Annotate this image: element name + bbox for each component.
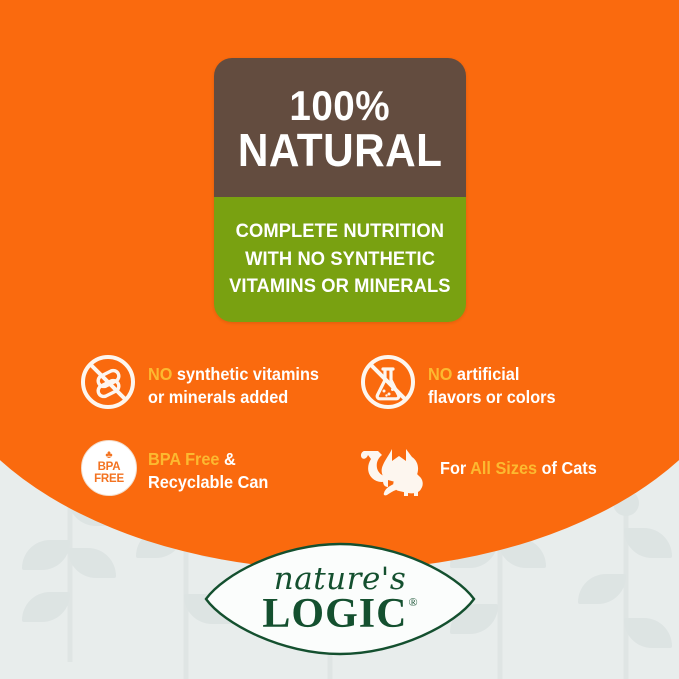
sprout-leaf bbox=[624, 618, 672, 648]
feature-text: NO artificial flavors or colors bbox=[428, 352, 556, 410]
leaf-mark-icon: ♣ bbox=[105, 450, 112, 461]
feature-text: BPA Free & Recyclable Can bbox=[148, 437, 268, 495]
feature-line-1: BPA Free & bbox=[148, 448, 268, 471]
logo-serif-word: LOGIC bbox=[262, 593, 407, 635]
feature-highlight: BPA Free bbox=[148, 449, 219, 469]
feature-highlight: All Sizes bbox=[470, 458, 537, 478]
feature-line-2: Recyclable Can bbox=[148, 471, 268, 494]
badge-natural: NATURAL bbox=[238, 127, 443, 174]
sprout-leaf bbox=[68, 548, 116, 578]
sprout-leaf bbox=[624, 528, 672, 558]
feature-line-1: For All Sizes of Cats bbox=[440, 457, 597, 480]
feature-no-artificial-flavors: NO artificial flavors or colors bbox=[358, 352, 638, 437]
feature-bpa-free-recyclable: ♣ BPA FREE BPA Free & Recyclable Can bbox=[78, 437, 358, 522]
logo-script-word: nature's bbox=[274, 564, 406, 595]
feature-highlight: NO bbox=[148, 364, 172, 384]
feature-line-1-rest: synthetic vitamins bbox=[172, 364, 319, 384]
logo-text-block: nature's LOGIC ® bbox=[202, 540, 478, 658]
feature-line-1: NO synthetic vitamins bbox=[148, 363, 319, 386]
badge-percent: 100% bbox=[290, 85, 391, 126]
no-pills-icon bbox=[78, 352, 138, 412]
feature-all-sizes-of-cats: For All Sizes of Cats bbox=[358, 437, 638, 522]
feature-line-1: NO artificial bbox=[428, 363, 556, 386]
bpa-free-icon: ♣ BPA FREE bbox=[78, 437, 138, 497]
feature-row-1: NO synthetic vitamins or minerals added bbox=[78, 352, 638, 437]
feature-line-2: or minerals added bbox=[148, 386, 319, 409]
feature-line-2: flavors or colors bbox=[428, 386, 556, 409]
badge-subtitle-line-1: COMPLETE NUTRITION bbox=[236, 218, 444, 246]
badge-subtitle-line-2: WITH NO SYNTHETIC bbox=[245, 246, 435, 274]
cats-icon bbox=[358, 437, 430, 497]
no-flask-icon bbox=[358, 352, 418, 412]
feature-prefix: For bbox=[440, 458, 470, 478]
feature-line-1-rest: of Cats bbox=[537, 458, 597, 478]
bpa-badge-line-2: FREE bbox=[94, 474, 124, 486]
bpa-free-badge: ♣ BPA FREE bbox=[81, 440, 137, 496]
registered-trademark-mark: ® bbox=[408, 596, 417, 608]
sprout-stem bbox=[498, 546, 503, 679]
feature-text: For All Sizes of Cats bbox=[440, 437, 597, 480]
feature-line-1-rest: artificial bbox=[452, 364, 519, 384]
feature-text: NO synthetic vitamins or minerals added bbox=[148, 352, 319, 410]
natural-badge-header: 100% NATURAL bbox=[214, 58, 466, 197]
feature-line-1-rest: & bbox=[219, 449, 235, 469]
badge-subtitle-line-3: VITAMINS OR MINERALS bbox=[229, 273, 451, 301]
feature-row-2: ♣ BPA FREE BPA Free & Recyclable Can bbox=[78, 437, 638, 522]
natural-badge-subtitle: COMPLETE NUTRITION WITH NO SYNTHETIC VIT… bbox=[214, 197, 466, 322]
feature-highlight: NO bbox=[428, 364, 452, 384]
logo-serif-row: LOGIC ® bbox=[262, 593, 417, 635]
feature-no-synthetic-vitamins: NO synthetic vitamins or minerals added bbox=[78, 352, 358, 437]
product-feature-panel: 100% NATURAL COMPLETE NUTRITION WITH NO … bbox=[0, 0, 679, 679]
feature-list: NO synthetic vitamins or minerals added bbox=[78, 352, 638, 522]
sprout-leaf bbox=[578, 574, 626, 604]
sprout-leaf bbox=[22, 592, 70, 622]
sprout-leaf bbox=[22, 540, 70, 570]
natural-badge: 100% NATURAL COMPLETE NUTRITION WITH NO … bbox=[214, 58, 466, 322]
natures-logic-logo: nature's LOGIC ® bbox=[202, 540, 478, 658]
